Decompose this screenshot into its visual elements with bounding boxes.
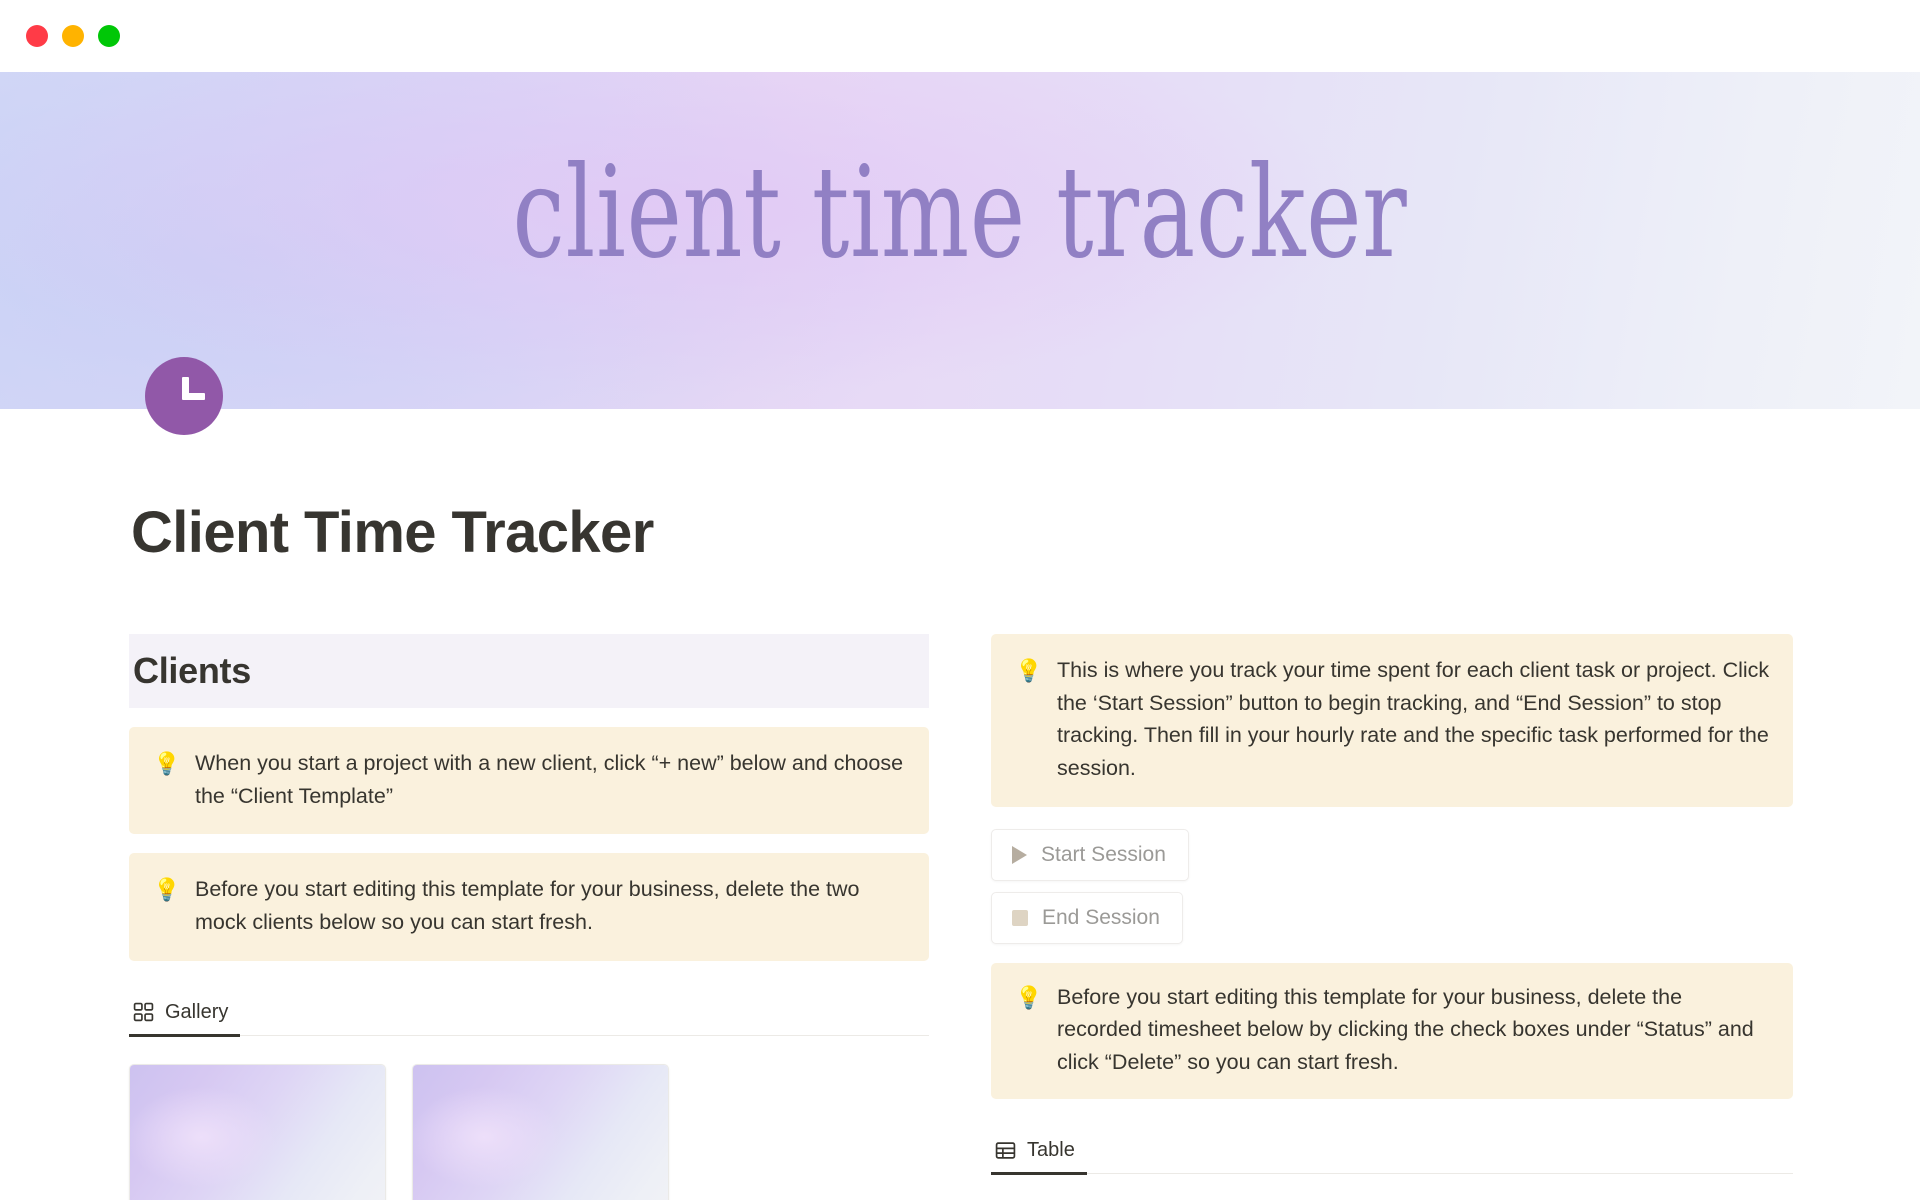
callout-text: Before you start editing this template f…: [195, 873, 907, 938]
start-session-label: Start Session: [1041, 843, 1166, 867]
gallery-card-cover: [130, 1065, 385, 1200]
clients-view-tabs: Gallery: [129, 995, 929, 1036]
tab-gallery[interactable]: Gallery: [129, 995, 240, 1037]
window-titlebar: [0, 0, 1920, 72]
clients-gallery: 😁 Mock Client 1 😁 Mock Client 2: [129, 1064, 929, 1200]
start-session-row: Start Session: [991, 829, 1793, 892]
end-session-label: End Session: [1042, 906, 1160, 930]
clients-section-heading: Clients: [129, 634, 929, 708]
lightbulb-icon: 💡: [153, 747, 177, 812]
callout-delete-mock-clients: 💡 Before you start editing this template…: [129, 853, 929, 960]
table-icon: [995, 1140, 1016, 1161]
left-column: Clients 💡 When you start a project with …: [129, 634, 929, 1200]
clock-icon: [145, 357, 223, 435]
callout-text: Before you start editing this template f…: [1057, 981, 1771, 1079]
gallery-card-cover: [413, 1065, 668, 1200]
callout-time-tracking-help: 💡 This is where you track your time spen…: [991, 634, 1793, 807]
lightbulb-icon: 💡: [153, 873, 177, 938]
start-session-button[interactable]: Start Session: [991, 829, 1189, 881]
close-window-button[interactable]: [26, 25, 48, 47]
page-icon[interactable]: [145, 357, 223, 435]
stop-icon: [1012, 910, 1028, 926]
gallery-card[interactable]: 😁 Mock Client 2: [412, 1064, 669, 1200]
maximize-window-button[interactable]: [98, 25, 120, 47]
right-column: 💡 This is where you track your time spen…: [991, 634, 1793, 1200]
lightbulb-icon: 💡: [1015, 981, 1039, 1079]
gallery-grid-icon: [133, 1002, 154, 1023]
callout-text: This is where you track your time spent …: [1057, 654, 1771, 785]
page-title: Client Time Tracker: [131, 499, 1920, 566]
callout-delete-timesheet: 💡 Before you start editing this template…: [991, 963, 1793, 1099]
lightbulb-icon: 💡: [1015, 654, 1039, 785]
gallery-card[interactable]: 😁 Mock Client 1: [129, 1064, 386, 1200]
minimize-window-button[interactable]: [62, 25, 84, 47]
two-column-layout: Clients 💡 When you start a project with …: [0, 634, 1920, 1200]
session-buttons-group: Start Session End Session: [991, 829, 1793, 955]
timesheet-view-tabs: Table: [991, 1133, 1793, 1174]
play-icon: [1012, 846, 1027, 864]
end-session-button[interactable]: End Session: [991, 892, 1183, 944]
callout-text: When you start a project with a new clie…: [195, 747, 907, 812]
page-body: Client Time Tracker Clients 💡 When you s…: [0, 499, 1920, 1200]
banner-title-text: client time tracker: [250, 150, 1671, 276]
end-session-row: End Session: [991, 892, 1793, 955]
page-cover-banner[interactable]: client time tracker: [0, 72, 1920, 409]
clock-hand-hour: [182, 393, 205, 400]
callout-new-client: 💡 When you start a project with a new cl…: [129, 727, 929, 834]
tab-table-label: Table: [1027, 1139, 1075, 1162]
tab-gallery-label: Gallery: [165, 1001, 228, 1024]
tab-table[interactable]: Table: [991, 1133, 1087, 1175]
